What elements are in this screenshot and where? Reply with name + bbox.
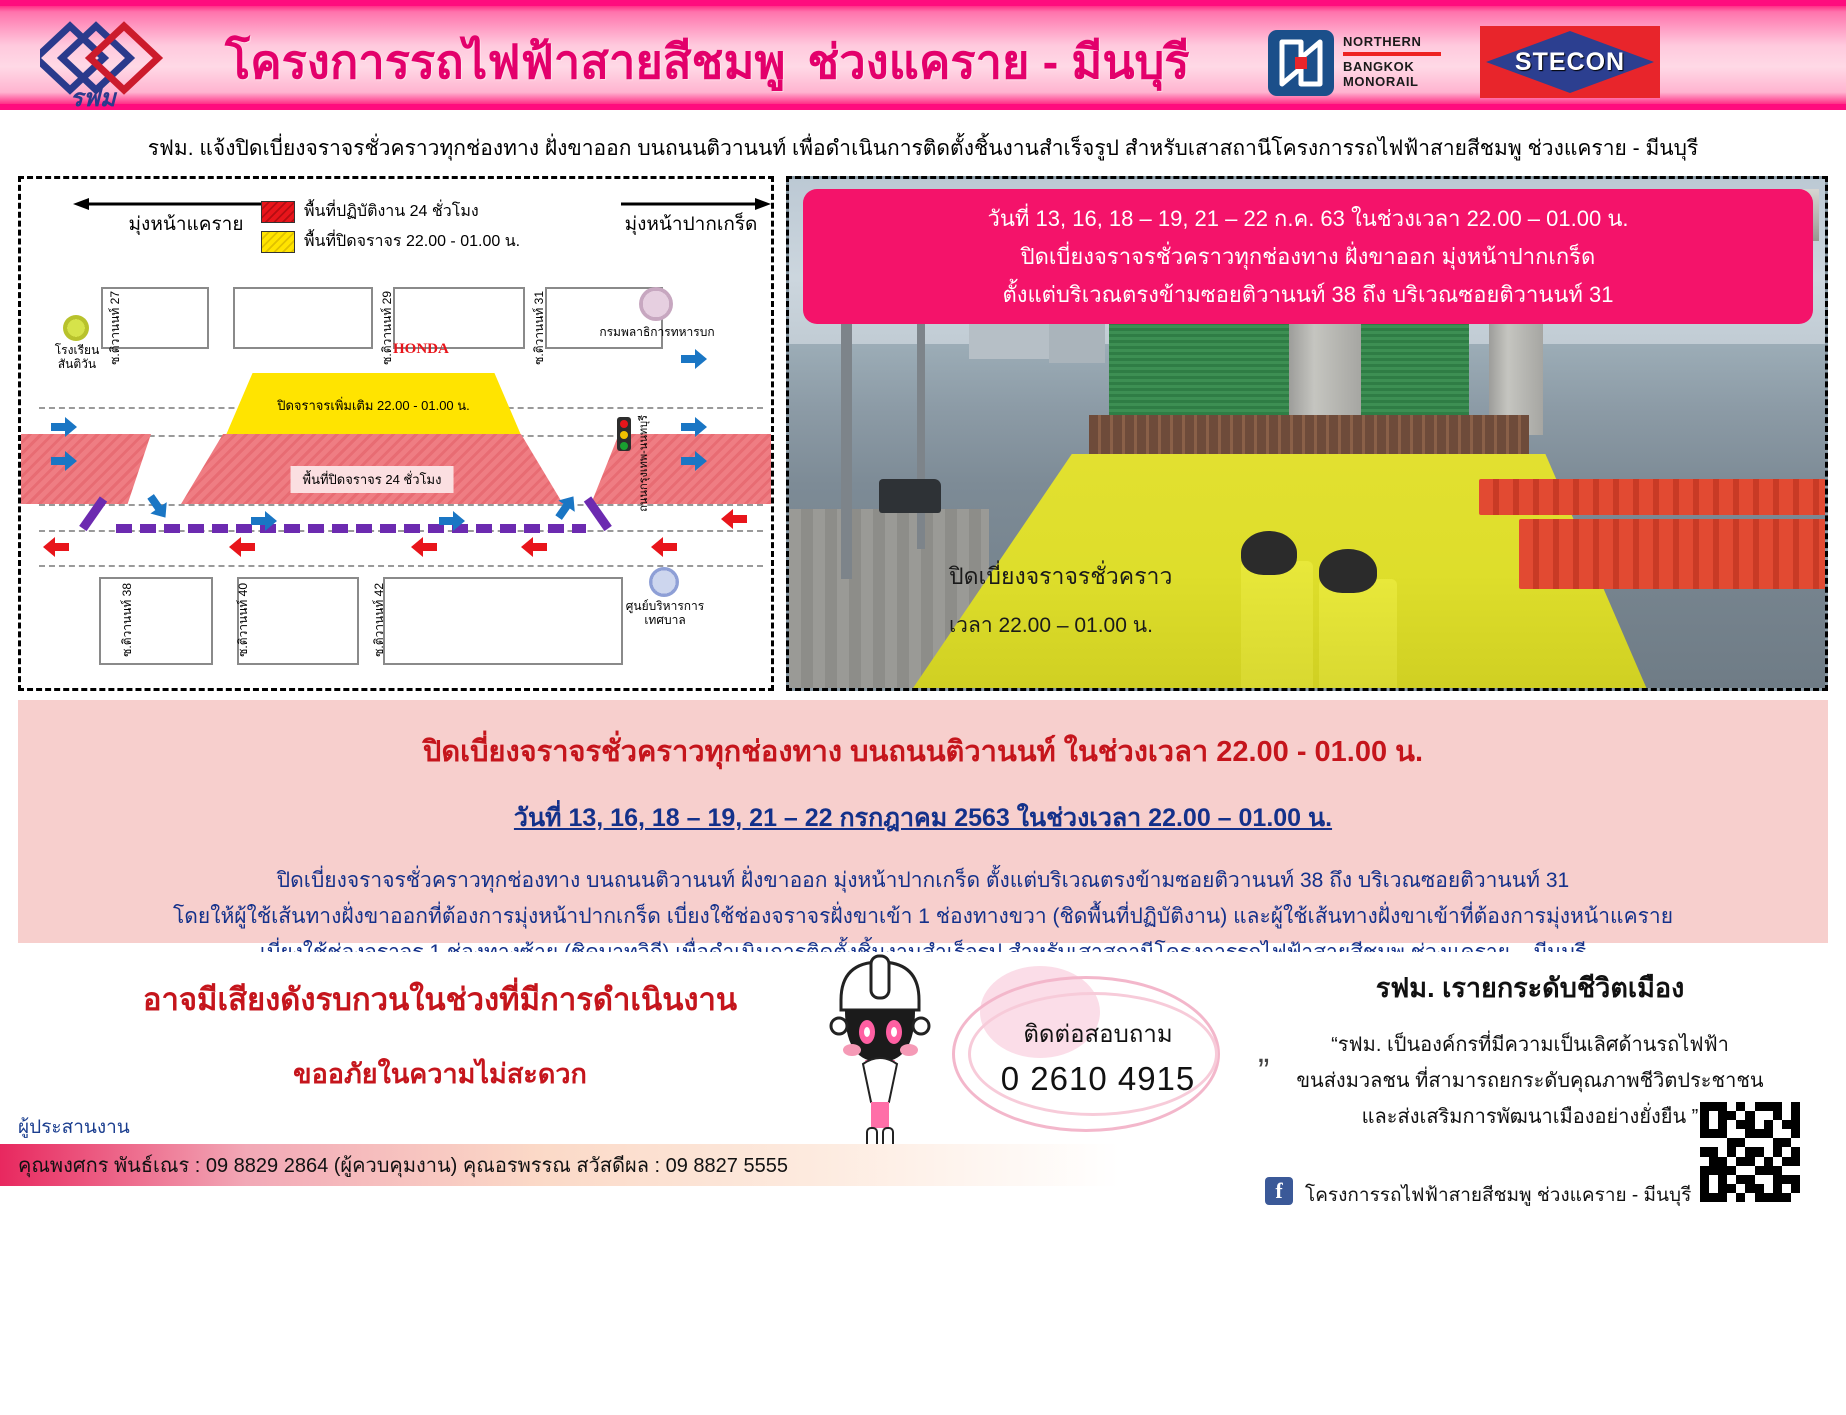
honda-label: HONDA bbox=[393, 341, 449, 358]
photo-worker bbox=[1319, 579, 1397, 691]
vision-quote-line-3: และส่งเสริมการพัฒนาเมืองอย่างยั่งยืน ” bbox=[1362, 1106, 1699, 1128]
vision-quote-line-1: “รฟม. เป็นองค์กรที่มีความเป็นเลิศด้านรถไ… bbox=[1331, 1034, 1729, 1056]
mascot-robot-icon bbox=[815, 952, 945, 1167]
svg-text:รฟม: รฟม bbox=[70, 85, 118, 110]
photo-worker-helmet-icon bbox=[1319, 549, 1377, 593]
detour-path-dashed bbox=[116, 524, 586, 533]
site-photo-panel: วันที่ 13, 16, 18 – 19, 21 – 22 ก.ค. 63 … bbox=[786, 176, 1828, 691]
northern-bangkok-monorail-wordmark: NORTHERN BANGKOK MONORAIL bbox=[1343, 34, 1453, 92]
page-title-part1: โครงการรถไฟฟ้าสายสีชมพู bbox=[225, 24, 785, 99]
legend-swatch-red-icon bbox=[261, 201, 295, 223]
stecon-diamond: STECON bbox=[1486, 31, 1654, 93]
soi-label-31: ซ.ติวานนท์ 31 bbox=[529, 291, 548, 365]
legend-label-work-area: พื้นที่ปฏิบัติงาน 24 ชั่วโมง bbox=[304, 199, 479, 224]
contact-phone-block: ติดต่อสอบถาม 0 2610 4915 bbox=[960, 982, 1250, 1142]
photo-caption-line-2: เวลา 22.00 – 01.00 น. bbox=[949, 609, 1172, 642]
apology-block: อาจมีเสียงดังรบกวนในช่วงที่มีการดำเนินงา… bbox=[60, 974, 820, 1095]
flow-arrow-red-icon bbox=[43, 537, 69, 557]
soi-label-40: ซ.ติวานนท์ 40 bbox=[233, 583, 252, 657]
city-seal-icon bbox=[649, 567, 679, 597]
poi-city-line2: เทศบาล bbox=[644, 613, 685, 627]
poi-school-line1: โรงเรียน bbox=[55, 343, 100, 357]
notice-heading-red: ปิดเบี่ยงจราจรชั่วคราวทุกช่องทาง บนถนนติ… bbox=[423, 728, 1423, 774]
army-seal-icon bbox=[639, 287, 673, 321]
subtitle-line: รฟม. แจ้งปิดเบี่ยงจราจรชั่วคราวทุกช่องทา… bbox=[0, 126, 1846, 170]
mrta-logo: รฟม bbox=[40, 18, 190, 110]
vision-quote-line-2: ขนส่งมวลชน ที่สามารถยกระดับคุณภาพชีวิตปร… bbox=[1296, 1070, 1763, 1092]
stecon-logo: STECON bbox=[1480, 26, 1660, 98]
photo-traffic-barrier bbox=[1519, 519, 1828, 589]
stecon-wordmark: STECON bbox=[1515, 48, 1625, 77]
apology-line-2: ขออภัยในความไม่สะดวก bbox=[60, 1052, 820, 1095]
map-legend: พื้นที่ปฏิบัติงาน 24 ชั่วโมง พื้นที่ปิดจ… bbox=[261, 199, 531, 259]
photo-worker-helmet-icon bbox=[1241, 531, 1297, 575]
flow-arrow-blue-icon bbox=[681, 451, 707, 471]
flow-arrow-blue-icon bbox=[251, 511, 277, 531]
vertical-road-label: ถนนกรุงเทพ-นนทบุรี bbox=[635, 415, 653, 512]
direction-arrow-right-icon bbox=[621, 197, 771, 209]
legend-swatch-yellow-icon bbox=[261, 231, 295, 253]
flow-arrow-blue-icon bbox=[681, 349, 707, 369]
flow-arrow-blue-icon bbox=[681, 417, 707, 437]
yellow-zone-label: ปิดจราจรเพิ่มเติม 22.00 - 01.00 น. bbox=[226, 395, 521, 416]
direction-label-pak-kret: มุ่งหน้าปากเกร็ด bbox=[621, 209, 761, 239]
block-bottom-3 bbox=[383, 577, 623, 665]
lane-line-5 bbox=[39, 565, 763, 567]
coordinator-label: ผู้ประสานงาน bbox=[18, 1112, 130, 1142]
red-work-zone-center: พื้นที่ปิดจราจร 24 ชั่วโมง bbox=[181, 434, 563, 504]
notice-body-line-2: โดยให้ผู้ใช้เส้นทางฝั่งขาออกที่ต้องการมุ… bbox=[173, 900, 1673, 934]
soi-label-38: ซ.ติวานนท์ 38 bbox=[117, 583, 136, 657]
poi-city-line1: ศูนย์บริหารการ bbox=[626, 599, 704, 613]
nbm-divider bbox=[1343, 52, 1441, 56]
school-seal-icon bbox=[63, 315, 89, 341]
block-bottom-2 bbox=[237, 577, 359, 665]
poi-army-label: กรมพลาธิการทหารบก bbox=[591, 325, 723, 339]
flow-arrow-blue-icon bbox=[51, 451, 77, 471]
soi-label-42: ซ.ติวานนท์ 42 bbox=[369, 583, 388, 657]
traffic-map: มุ่งหน้าแคราย มุ่งหน้าปากเกร็ด พื้นที่ปฏ… bbox=[21, 179, 771, 688]
contact-phone-number[interactable]: 0 2610 4915 bbox=[978, 1060, 1218, 1098]
photo-notice-line-2: ปิดเบี่ยงจราจรชั่วคราวทุกช่องทาง ฝั่งขาอ… bbox=[1021, 238, 1596, 276]
yellow-closure-zone: ปิดจราจรเพิ่มเติม 22.00 - 01.00 น. bbox=[226, 373, 521, 435]
flow-arrow-red-icon bbox=[411, 537, 437, 557]
page-title: โครงการรถไฟฟ้าสายสีชมพู ช่วงแคราย - มีนบ… bbox=[225, 22, 1245, 100]
red-zone-label: พื้นที่ปิดจราจร 24 ชั่วโมง bbox=[291, 466, 454, 493]
notice-heading-blue: วันที่ 13, 16, 18 – 19, 21 – 22 กรกฎาคม … bbox=[514, 798, 1332, 838]
flow-arrow-red-icon bbox=[721, 509, 747, 529]
legend-item: พื้นที่ปฏิบัติงาน 24 ชั่วโมง bbox=[261, 199, 531, 224]
apology-line-1: อาจมีเสียงดังรบกวนในช่วงที่มีการดำเนินงา… bbox=[60, 974, 820, 1024]
legend-item: พื้นที่ปิดจราจร 22.00 - 01.00 น. bbox=[261, 229, 531, 254]
photo-traffic-barrier bbox=[1479, 479, 1828, 515]
flow-arrow-red-icon bbox=[229, 537, 255, 557]
nbm-line-3: MONORAIL bbox=[1343, 74, 1453, 89]
block-top-3 bbox=[393, 287, 525, 349]
flow-arrow-red-icon bbox=[521, 537, 547, 557]
block-top-2 bbox=[233, 287, 373, 349]
poi-city-label: ศูนย์บริหารการ เทศบาล bbox=[615, 599, 715, 627]
photo-notice-line-3: ตั้งแต่บริเวณตรงข้ามซอยติวานนท์ 38 ถึง บ… bbox=[1002, 276, 1613, 314]
page-title-part2: ช่วงแคราย - มีนบุรี bbox=[807, 24, 1189, 99]
nbm-line-1: NORTHERN bbox=[1343, 34, 1453, 49]
qr-code-grid bbox=[1700, 1102, 1800, 1202]
vision-title: รฟม. เรายกระดับชีวิตเมือง bbox=[1230, 966, 1830, 1009]
poi-school-line2: สันติวัน bbox=[58, 357, 96, 371]
poi-school-label: โรงเรียน สันติวัน bbox=[47, 343, 107, 371]
photo-parked-car bbox=[879, 479, 941, 513]
legend-label-closure-area: พื้นที่ปิดจราจร 22.00 - 01.00 น. bbox=[304, 229, 520, 254]
flow-arrow-blue-merge-icon bbox=[142, 491, 173, 524]
red-work-zone-left bbox=[21, 434, 151, 504]
flow-arrow-red-icon bbox=[651, 537, 677, 557]
notice-poster: รฟม โครงการรถไฟฟ้าสายสีชมพู ช่วงแคราย - … bbox=[0, 0, 1846, 1415]
facebook-page-name[interactable]: โครงการรถไฟฟ้าสายสีชมพู ช่วงแคราย - มีนบ… bbox=[1305, 1180, 1691, 1210]
northern-bangkok-monorail-logo bbox=[1268, 30, 1334, 96]
flow-arrow-blue-icon bbox=[51, 417, 77, 437]
main-notice-block: ปิดเบี่ยงจราจรชั่วคราวทุกช่องทาง บนถนนติ… bbox=[18, 700, 1828, 943]
photo-caption-line-1: ปิดเบี่ยงจราจรชั่วคราว bbox=[949, 559, 1172, 595]
direction-arrow-left-icon bbox=[73, 197, 263, 209]
photo-worker bbox=[1241, 561, 1313, 691]
soi-label-27: ซ.ติวานนท์ 27 bbox=[105, 291, 124, 365]
flow-arrow-blue-icon bbox=[439, 511, 465, 531]
page-footer: อาจมีเสียงดังรบกวนในช่วงที่มีการดำเนินงา… bbox=[0, 952, 1846, 1415]
traffic-map-panel: มุ่งหน้าแคราย มุ่งหน้าปากเกร็ด พื้นที่ปฏ… bbox=[18, 176, 774, 691]
facebook-icon[interactable]: f bbox=[1265, 1177, 1293, 1205]
notice-body-line-1: ปิดเบี่ยงจราจรชั่วคราวทุกช่องทาง บนถนนติ… bbox=[277, 864, 1569, 898]
photo-caption: ปิดเบี่ยงจราจรชั่วคราว เวลา 22.00 – 01.0… bbox=[949, 559, 1172, 642]
photo-notice-box: วันที่ 13, 16, 18 – 19, 21 – 22 ก.ค. 63 … bbox=[803, 189, 1813, 324]
nbm-line-2: BANGKOK bbox=[1343, 59, 1453, 74]
qr-code[interactable] bbox=[1700, 1102, 1800, 1202]
photo-notice-line-1: วันที่ 13, 16, 18 – 19, 21 – 22 ก.ค. 63 … bbox=[988, 200, 1629, 238]
coordinator-contact-bar: คุณพงศกร พันธ์เณร : 09 8829 2864 (ผู้ควบ… bbox=[0, 1144, 1120, 1186]
traffic-light-icon bbox=[617, 417, 631, 451]
quote-mark-icon: „ bbox=[1258, 1032, 1269, 1071]
page-header: รฟม โครงการรถไฟฟ้าสายสีชมพู ช่วงแคราย - … bbox=[0, 0, 1846, 110]
contact-label: ติดต่อสอบถาม bbox=[988, 1014, 1208, 1053]
